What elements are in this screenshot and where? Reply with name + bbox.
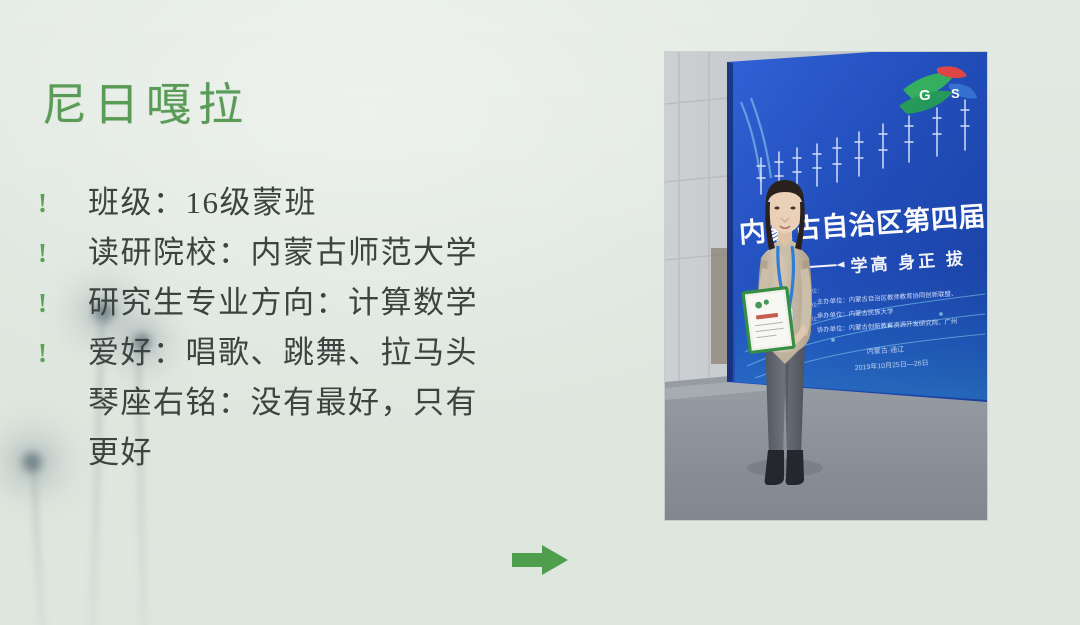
list-item-label: 琴座右铭：没有最好，只有 — [88, 378, 608, 428]
list-item: ! 班级：16级蒙班 — [28, 178, 608, 228]
list-item-label: 读研院校：内蒙古师范大学 — [88, 228, 608, 278]
profile-photo: G S 内蒙古自治区第四届师 — [665, 52, 987, 520]
profile-text-block: ! 班级：16级蒙班 ! 读研院校：内蒙古师范大学 ! 研究生专业方向：计算数学… — [28, 178, 608, 478]
bullet-marker: ! — [28, 278, 88, 328]
list-item-label: 更好 — [88, 428, 608, 478]
slide-canvas: 尼日嘎拉 ! 班级：16级蒙班 ! 读研院校：内蒙古师范大学 ! 研究生专业方向… — [0, 0, 1080, 625]
bullet-marker: ! — [28, 228, 88, 278]
list-item-continuation: 更好 — [28, 428, 608, 478]
page-title: 尼日嘎拉 — [42, 68, 250, 133]
list-item-label: 研究生专业方向：计算数学 — [88, 278, 608, 328]
list-item-label: 爱好：唱歌、跳舞、拉马头 — [88, 328, 608, 378]
list-item-label: 班级：16级蒙班 — [88, 178, 608, 228]
bullet-marker: ! — [28, 328, 88, 378]
list-item: ! 研究生专业方向：计算数学 — [28, 278, 608, 328]
bullet-marker: ! — [28, 178, 88, 228]
arrow-right-icon[interactable] — [512, 543, 568, 577]
list-item: ! 爱好：唱歌、跳舞、拉马头 — [28, 328, 608, 378]
list-item: ! 读研院校：内蒙古师范大学 — [28, 228, 608, 278]
list-item-continuation: 琴座右铭：没有最好，只有 — [28, 378, 608, 428]
